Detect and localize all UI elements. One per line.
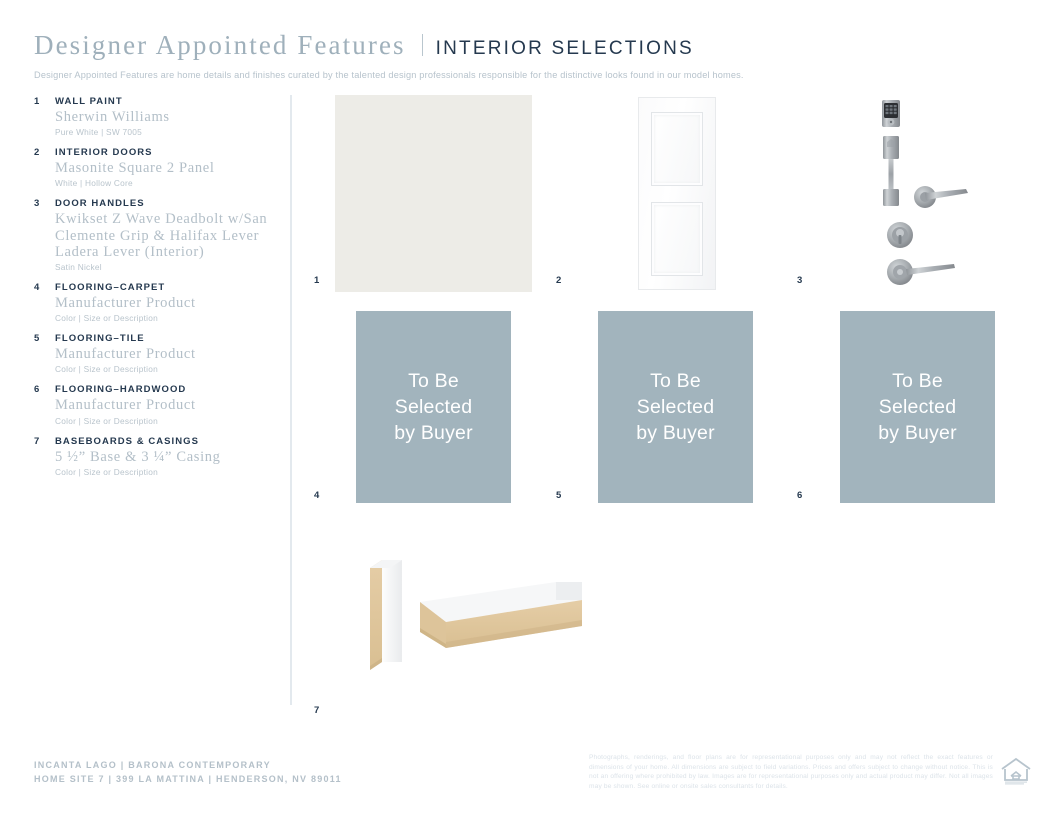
panel-number-2: 2 (556, 275, 562, 286)
feature-number: 2 (34, 147, 55, 158)
keyway (899, 235, 902, 244)
feature-item-interior-doors: 2 INTERIOR DOORS Masonite Square 2 Panel… (34, 147, 274, 189)
feature-item-flooring-tile: 5 FLOORING–TILE Manufacturer Product Col… (34, 333, 274, 375)
placeholder-tile-hardwood: To Be Selected by Buyer (840, 311, 995, 503)
feature-product: Masonite Square 2 Panel (55, 160, 274, 176)
feature-title: WALL PAINT (55, 96, 123, 107)
feature-description: White | Hollow Core (55, 178, 274, 189)
feature-description: Pure White | SW 7005 (55, 127, 274, 138)
page-title-secondary: INTERIOR SELECTIONS (436, 38, 694, 60)
feature-body: Manufacturer Product Color | Size or Des… (55, 295, 274, 324)
panel-number-4: 4 (314, 490, 320, 501)
placeholder-tile-tile: To Be Selected by Buyer (598, 311, 753, 503)
feature-product: Sherwin Williams (55, 109, 274, 125)
brochure-page: Designer Appointed Features INTERIOR SEL… (0, 0, 1055, 815)
page-header: Designer Appointed Features INTERIOR SEL… (34, 30, 1014, 80)
feature-description: Color | Size or Description (55, 364, 274, 375)
footer-home-site: HOME SITE 7 | 399 LA MATTINA | HENDERSON… (34, 772, 342, 786)
page-title: Designer Appointed Features INTERIOR SEL… (34, 30, 1014, 61)
feature-description: Satin Nickel (55, 262, 274, 273)
feature-body: 5 ½” Base & 3 ¼” Casing Color | Size or … (55, 449, 274, 478)
feature-heading: 1 WALL PAINT (34, 96, 274, 107)
feature-body: Masonite Square 2 Panel White | Hollow C… (55, 160, 274, 189)
feature-item-door-handles: 3 DOOR HANDLES Kwikset Z Wave Deadbolt w… (34, 198, 274, 273)
page-subtitle: Designer Appointed Features are home det… (34, 70, 1014, 80)
feature-heading: 2 INTERIOR DOORS (34, 147, 274, 158)
footer-community-info: INCANTA LAGO | BARONA CONTEMPORARY HOME … (34, 758, 342, 786)
placeholder-text: To Be Selected by Buyer (878, 368, 957, 446)
feature-heading: 3 DOOR HANDLES (34, 198, 274, 209)
feature-heading: 5 FLOORING–TILE (34, 333, 274, 344)
feature-product: Manufacturer Product (55, 346, 274, 362)
feature-product: Kwikset Z Wave Deadbolt w/San Clemente G… (55, 211, 274, 260)
feature-body: Sherwin Williams Pure White | SW 7005 (55, 109, 274, 138)
feature-product: Manufacturer Product (55, 397, 274, 413)
baseboard-piece (370, 560, 402, 670)
feature-number: 1 (34, 96, 55, 107)
eho-svg (1000, 756, 1032, 786)
panel-number-6: 6 (797, 490, 803, 501)
feature-item-wall-paint: 1 WALL PAINT Sherwin Williams Pure White… (34, 96, 274, 138)
wall-paint-swatch (335, 95, 532, 292)
feature-description: Color | Size or Description (55, 416, 274, 427)
feature-heading: 6 FLOORING–HARDWOOD (34, 384, 274, 395)
door-panel-top (651, 112, 703, 186)
feature-number: 7 (34, 436, 55, 447)
footer-disclaimer: Photographs, renderings, and floor plans… (589, 753, 993, 791)
door-hardware-svg (862, 96, 992, 288)
panel-number-5: 5 (556, 490, 562, 501)
keypad-keys (886, 105, 897, 114)
trim-svg (360, 540, 590, 700)
handleset-grip (889, 159, 894, 189)
placeholder-tile-carpet: To Be Selected by Buyer (356, 311, 511, 503)
door-slab (638, 97, 716, 290)
feature-item-baseboards-casings: 7 BASEBOARDS & CASINGS 5 ½” Base & 3 ¼” … (34, 436, 274, 478)
feature-title: BASEBOARDS & CASINGS (55, 436, 199, 447)
panel-number-1: 1 (314, 275, 320, 286)
title-divider (422, 34, 423, 56)
footer-community-name: INCANTA LAGO | BARONA CONTEMPORARY (34, 758, 342, 772)
features-list: 1 WALL PAINT Sherwin Williams Pure White… (34, 96, 274, 487)
feature-product: Manufacturer Product (55, 295, 274, 311)
feature-body: Manufacturer Product Color | Size or Des… (55, 397, 274, 426)
content-divider (290, 95, 292, 705)
feature-product: 5 ½” Base & 3 ¼” Casing (55, 449, 274, 465)
door-hardware-image (862, 96, 992, 288)
feature-number: 5 (34, 333, 55, 344)
feature-title: FLOORING–TILE (55, 333, 145, 344)
feature-number: 3 (34, 198, 55, 209)
feature-heading: 4 FLOORING–CARPET (34, 282, 274, 293)
placeholder-text: To Be Selected by Buyer (636, 368, 715, 446)
panel-number-7: 7 (314, 705, 320, 716)
feature-heading: 7 BASEBOARDS & CASINGS (34, 436, 274, 447)
panel-number-3: 3 (797, 275, 803, 286)
door-panel-bottom (651, 202, 703, 276)
interior-door-image (638, 97, 716, 290)
feature-description: Color | Size or Description (55, 467, 274, 478)
feature-title: DOOR HANDLES (55, 198, 145, 209)
feature-title: FLOORING–HARDWOOD (55, 384, 186, 395)
feature-description: Color | Size or Description (55, 313, 274, 324)
feature-body: Manufacturer Product Color | Size or Des… (55, 346, 274, 375)
equal-housing-opportunity-icon (1000, 756, 1032, 786)
trim-image (360, 540, 590, 700)
feature-item-flooring-hardwood: 6 FLOORING–HARDWOOD Manufacturer Product… (34, 384, 274, 426)
feature-number: 4 (34, 282, 55, 293)
feature-title: INTERIOR DOORS (55, 147, 153, 158)
feature-number: 6 (34, 384, 55, 395)
casing-piece (420, 582, 582, 648)
ladera-lever (906, 264, 955, 275)
feature-title: FLOORING–CARPET (55, 282, 165, 293)
placeholder-text: To Be Selected by Buyer (394, 368, 473, 446)
handleset-bottom-plate (883, 189, 899, 206)
feature-body: Kwikset Z Wave Deadbolt w/San Clemente G… (55, 211, 274, 273)
feature-item-flooring-carpet: 4 FLOORING–CARPET Manufacturer Product C… (34, 282, 274, 324)
page-title-primary: Designer Appointed Features (34, 30, 406, 61)
